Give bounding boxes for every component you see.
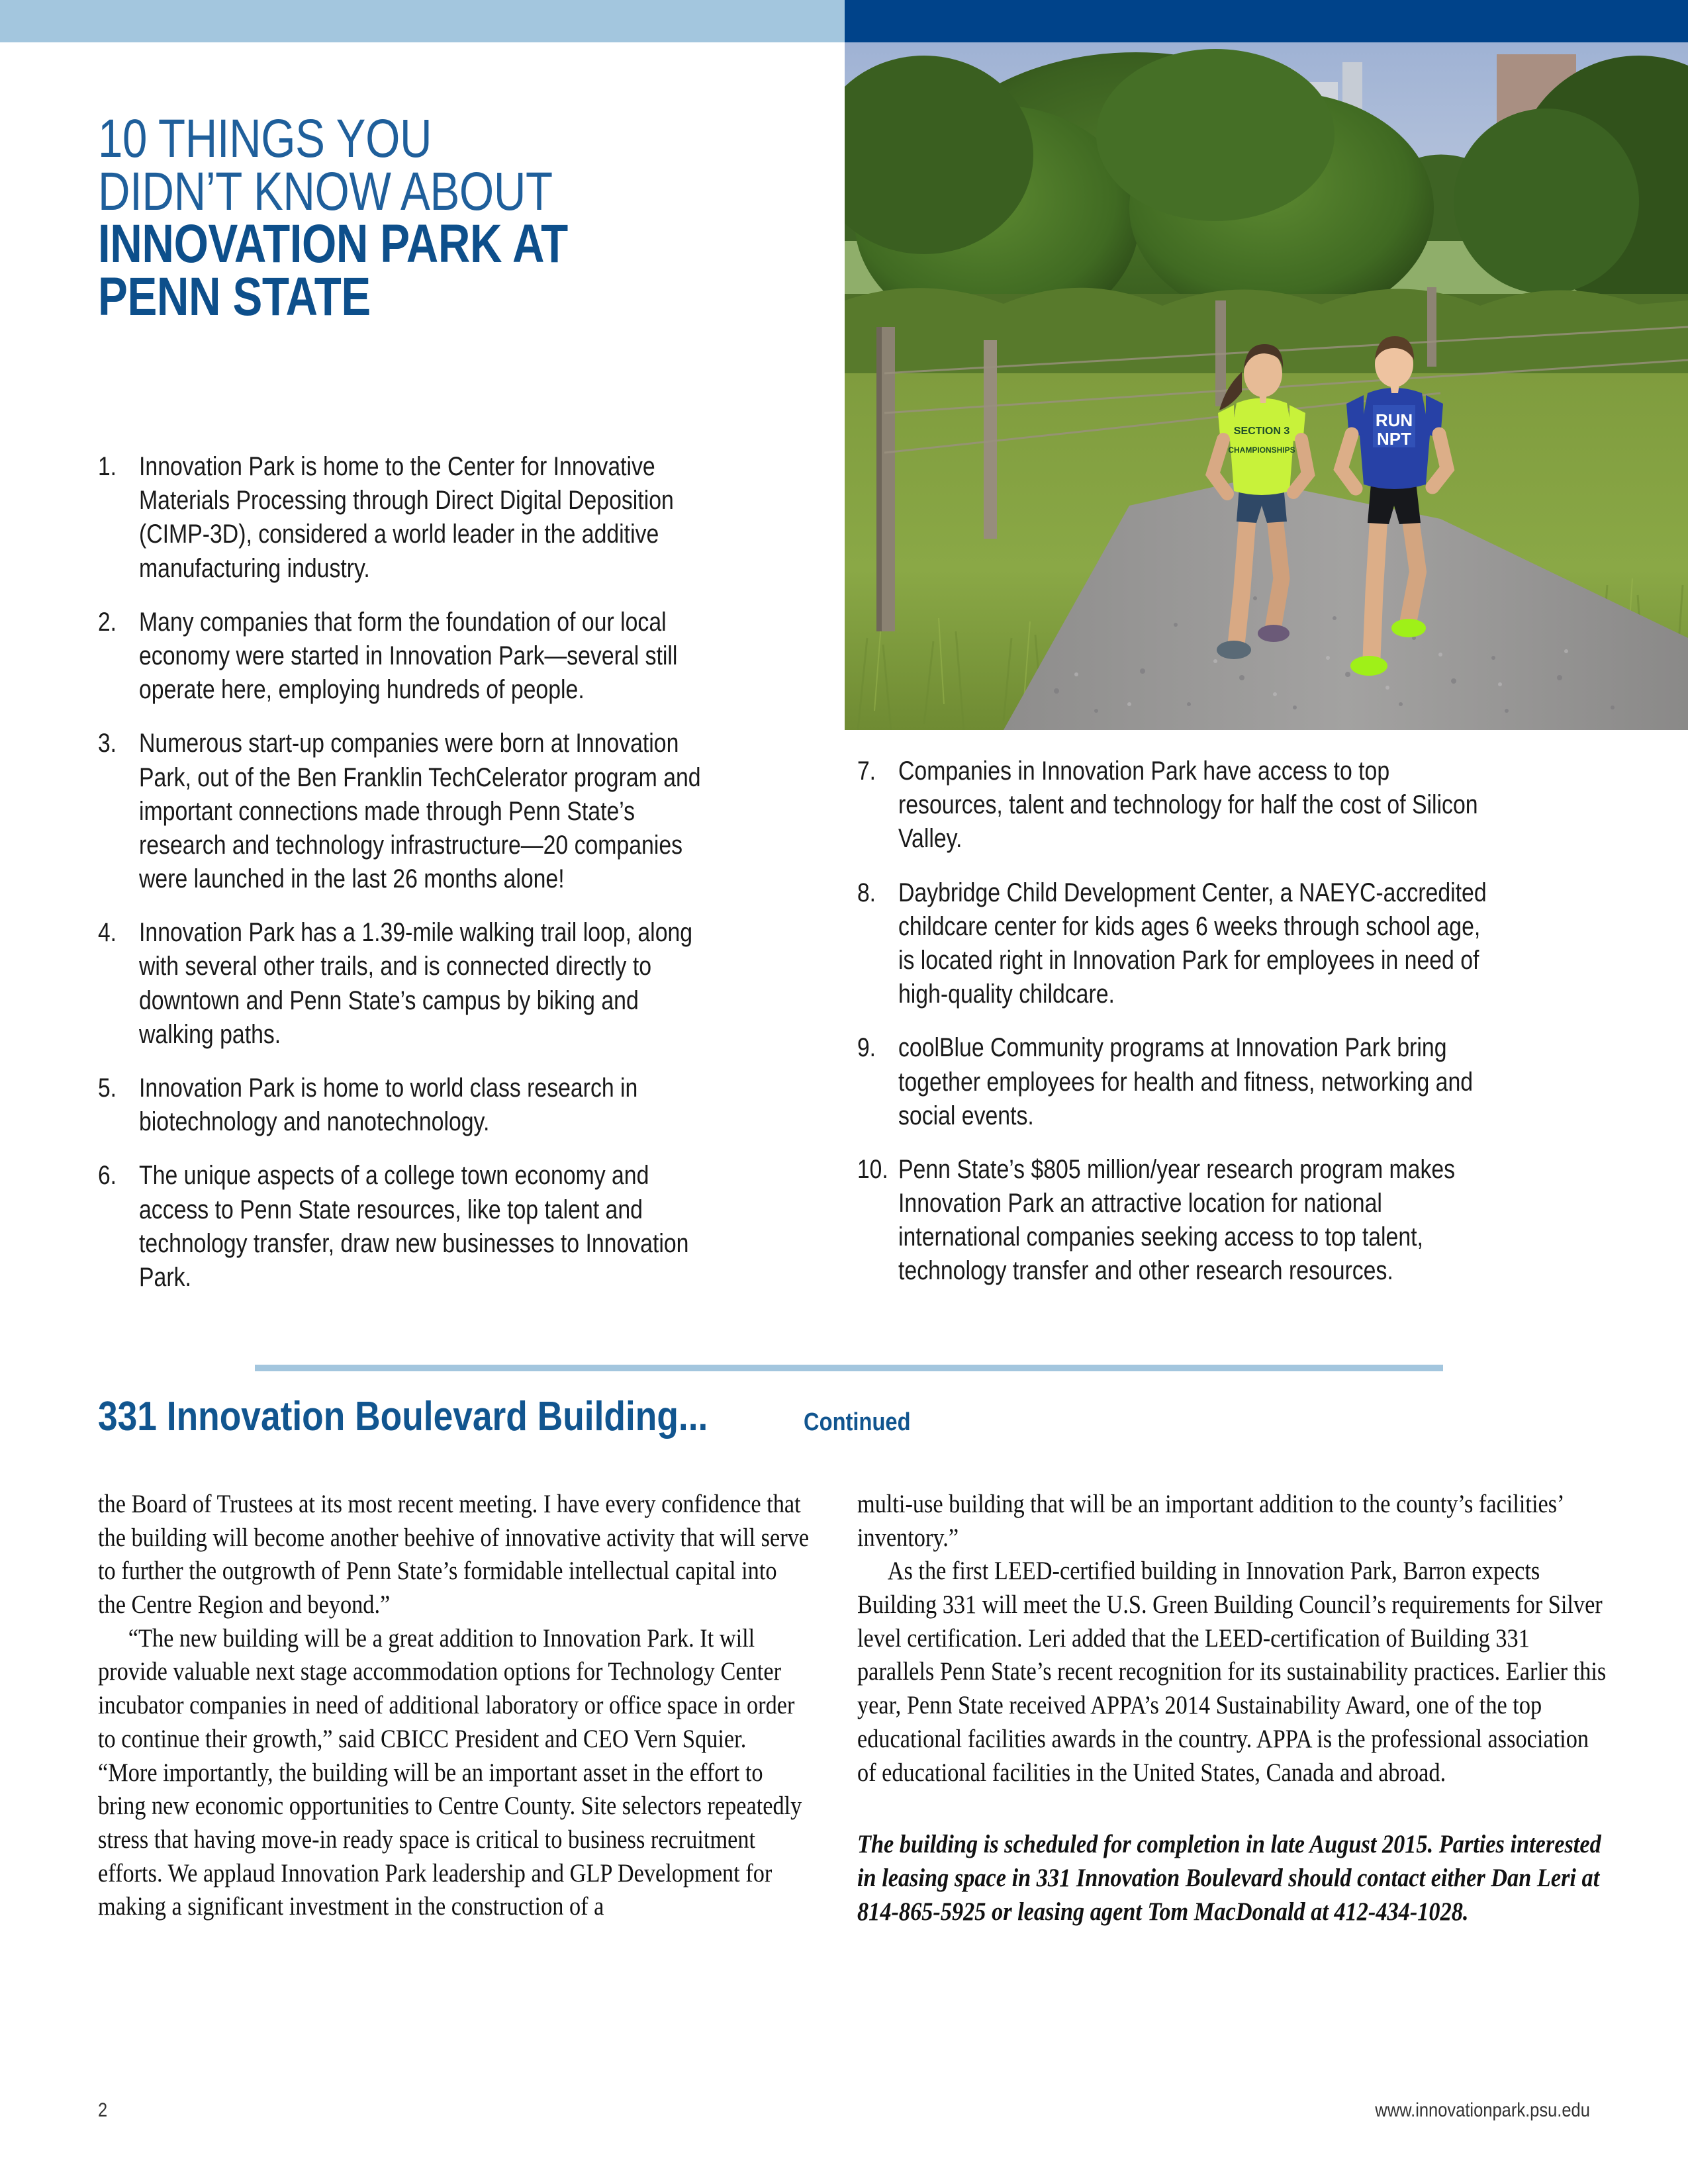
svg-text:CHAMPIONSHIPS: CHAMPIONSHIPS	[1228, 445, 1295, 455]
website-url[interactable]: www.innovationpark.psu.edu	[1375, 2099, 1590, 2122]
top-band-right-dark-blue	[845, 0, 1688, 42]
top-color-band	[0, 0, 1688, 42]
facts-list-left: 1. Innovation Park is home to the Center…	[98, 450, 806, 1314]
continued-article-title: 331 Innovation Boulevard Building...	[98, 1393, 708, 1440]
headline-line-2: DIDN’T KNOW ABOUT	[98, 165, 695, 218]
list-item-text: Many companies that form the foundation …	[139, 606, 703, 707]
list-item-number: 7.	[857, 754, 892, 856]
runners-photo-illustration: SECTION 3 CHAMPIONSHIPS	[845, 42, 1688, 730]
continued-article-heading: 331 Innovation Boulevard Building... Con…	[98, 1393, 928, 1440]
page-title: 10 THINGS YOU DIDN’T KNOW ABOUT INNOVATI…	[98, 113, 826, 323]
list-item-text: coolBlue Community programs at Innovatio…	[898, 1031, 1499, 1133]
list-item-text: Daybridge Child Development Center, a NA…	[898, 876, 1499, 1012]
list-item-number: 3.	[98, 727, 132, 896]
list-item: 7. Companies in Innovation Park have acc…	[857, 754, 1609, 856]
list-item-text: The unique aspects of a college town eco…	[139, 1159, 703, 1295]
page-number: 2	[98, 2099, 107, 2122]
list-item: 5. Innovation Park is home to world clas…	[98, 1071, 806, 1139]
list-item-number: 5.	[98, 1071, 132, 1139]
list-item-number: 4.	[98, 916, 132, 1052]
article-column-right: multi-use building that will be an impor…	[857, 1488, 1609, 1929]
list-item: 4. Innovation Park has a 1.39-mile walki…	[98, 916, 806, 1052]
article-paragraph: As the first LEED-certified building in …	[857, 1555, 1609, 1790]
list-item: 2. Many companies that form the foundati…	[98, 606, 806, 707]
list-item-text: Innovation Park has a 1.39-mile walking …	[139, 916, 703, 1052]
continued-label: Continued	[804, 1408, 911, 1437]
list-item-number: 8.	[857, 876, 892, 1012]
list-item-text: Innovation Park is home to world class r…	[139, 1071, 703, 1139]
headline-line-1: 10 THINGS YOU	[98, 113, 695, 165]
facts-list-right: 7. Companies in Innovation Park have acc…	[857, 754, 1609, 1308]
headline-line-4: PENN STATE	[98, 271, 695, 324]
list-item-number: 9.	[857, 1031, 892, 1133]
list-item-number: 10.	[857, 1153, 892, 1289]
article-closing-note: The building is scheduled for completion…	[857, 1828, 1609, 1929]
list-item-number: 6.	[98, 1159, 132, 1295]
section-divider-rule	[255, 1365, 1443, 1371]
runners-photo: SECTION 3 CHAMPIONSHIPS	[845, 42, 1688, 730]
list-item: 6. The unique aspects of a college town …	[98, 1159, 806, 1295]
list-item-text: Companies in Innovation Park have access…	[898, 754, 1499, 856]
page-footer: 2 www.innovationpark.psu.edu	[98, 2099, 1590, 2122]
svg-text:NPT: NPT	[1377, 429, 1411, 449]
headline-line-3: INNOVATION PARK AT	[98, 218, 695, 271]
article-paragraph: “The new building will be a great additi…	[98, 1622, 810, 1924]
list-item: 9. coolBlue Community programs at Innova…	[857, 1031, 1609, 1133]
svg-text:RUN: RUN	[1376, 410, 1413, 430]
article-column-left: the Board of Trustees at its most recent…	[98, 1488, 810, 1924]
article-paragraph: multi-use building that will be an impor…	[857, 1488, 1609, 1555]
list-item: 10. Penn State’s $805 million/year resea…	[857, 1153, 1609, 1289]
article-paragraph: the Board of Trustees at its most recent…	[98, 1488, 810, 1622]
list-item-text: Innovation Park is home to the Center fo…	[139, 450, 703, 586]
svg-text:SECTION 3: SECTION 3	[1234, 426, 1290, 437]
list-item-text: Penn State’s $805 million/year research …	[898, 1153, 1499, 1289]
list-item-text: Numerous start-up companies were born at…	[139, 727, 703, 896]
list-item: 8. Daybridge Child Development Center, a…	[857, 876, 1609, 1012]
list-item: 1. Innovation Park is home to the Center…	[98, 450, 806, 586]
list-item-number: 1.	[98, 450, 132, 586]
list-item: 3. Numerous start-up companies were born…	[98, 727, 806, 896]
top-band-left-light-blue	[0, 0, 845, 42]
list-item-number: 2.	[98, 606, 132, 707]
